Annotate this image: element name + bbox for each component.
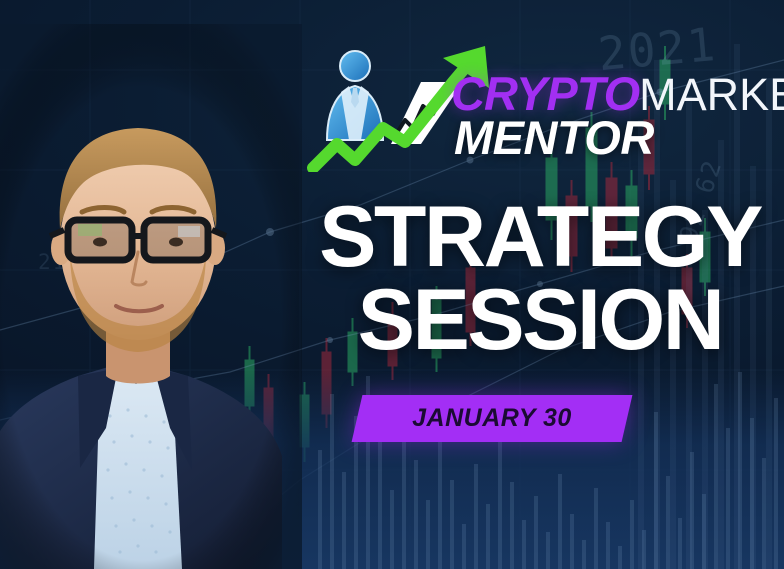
headline-line-1: STRATEGY bbox=[300, 196, 780, 279]
brand-logo: CRYPTOMARKET MENTOR bbox=[303, 44, 773, 174]
date-banner-label: JANUARY 30 bbox=[357, 395, 627, 442]
logo-word-mentor: MENTOR bbox=[454, 114, 654, 161]
date-banner: JANUARY 30 bbox=[352, 395, 633, 442]
presenter-portrait bbox=[0, 24, 302, 569]
promo-graphic: 2021 92 62 21 bbox=[0, 0, 784, 569]
page-title: STRATEGY SESSION bbox=[300, 196, 780, 361]
logo-wordmark: CRYPTOMARKET MENTOR bbox=[451, 70, 781, 170]
headline-line-2: SESSION bbox=[300, 279, 780, 362]
businessman-silhouette-icon bbox=[327, 51, 383, 140]
logo-word-market: MARKET bbox=[639, 69, 784, 120]
